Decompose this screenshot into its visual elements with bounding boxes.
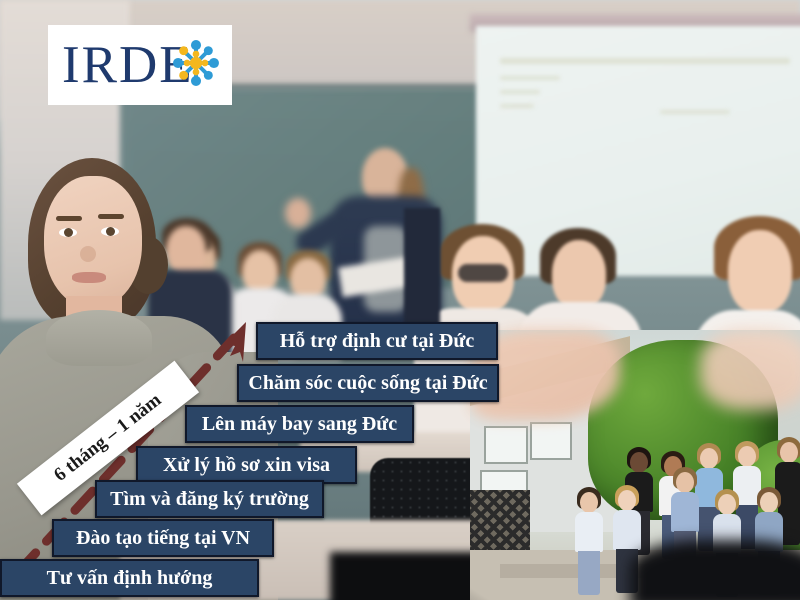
portrait-turtleneck-collar xyxy=(46,310,152,366)
portrait-brow-left xyxy=(56,216,82,221)
photo-person-bottom xyxy=(578,551,600,595)
service-step-label: Chăm sóc cuộc sống tại Đức xyxy=(248,372,487,395)
student-behind-head xyxy=(166,226,206,276)
molecule-icon xyxy=(168,35,224,91)
screen-row-2 xyxy=(500,76,560,80)
service-step-label: Tìm và đăng ký trường xyxy=(110,488,309,511)
photo-window-1 xyxy=(484,426,528,464)
photo-person-head xyxy=(700,448,718,469)
portrait-face xyxy=(44,176,142,308)
photo-person-head xyxy=(738,446,756,467)
photo-window-2 xyxy=(530,422,572,460)
foreground-blur-hand-right xyxy=(700,330,800,410)
student-fg-blazer xyxy=(404,208,440,328)
photo-person-top xyxy=(671,492,699,532)
photo-person-top xyxy=(575,512,603,552)
photo-person-head xyxy=(760,492,778,513)
service-step-label: Xử lý hồ sơ xin visa xyxy=(163,454,330,477)
screen-row-4 xyxy=(500,104,534,108)
service-step-6[interactable]: Đào tạo tiếng tại VN xyxy=(52,519,274,557)
student-fg-2-head xyxy=(552,240,606,310)
photo-person-head xyxy=(780,442,798,463)
teacher-hand xyxy=(285,198,311,228)
service-step-7[interactable]: Tư vấn định hướng xyxy=(0,559,259,597)
student-fg-1-glasses xyxy=(458,264,508,282)
photo-person-head xyxy=(580,492,598,513)
irde-logo[interactable]: IRDE xyxy=(48,25,232,105)
service-step-5[interactable]: Tìm và đăng ký trường xyxy=(95,480,324,518)
screen-row-1 xyxy=(500,58,790,64)
photo-person-head xyxy=(676,472,694,493)
foreground-blur-dark xyxy=(630,540,800,600)
photo-person-head xyxy=(718,494,736,515)
service-step-label: Hỗ trợ định cư tại Đức xyxy=(280,330,475,353)
photo-person-head xyxy=(630,452,648,473)
service-step-label: Tư vấn định hướng xyxy=(47,567,213,590)
student-fg-3-head xyxy=(728,230,792,314)
service-step-label: Đào tạo tiếng tại VN xyxy=(76,527,250,550)
service-step-1[interactable]: Hỗ trợ định cư tại Đức xyxy=(256,322,498,360)
service-step-2[interactable]: Chăm sóc cuộc sống tại Đức xyxy=(237,364,499,402)
photo-person-top xyxy=(613,510,641,550)
screen-row-5 xyxy=(660,110,730,114)
portrait-pupil-right xyxy=(106,227,115,236)
service-step-label: Lên máy bay sang Đức xyxy=(202,413,397,436)
screen-row-3 xyxy=(500,90,540,94)
portrait-pupil-left xyxy=(64,228,73,237)
service-step-4[interactable]: Xử lý hồ sơ xin visa xyxy=(136,446,357,484)
portrait-brow-right xyxy=(98,214,124,219)
portrait-lips xyxy=(72,272,106,283)
promo-graphic: 6 tháng – 1 năm Hỗ trợ định cư tại ĐứcCh… xyxy=(0,0,800,600)
service-step-3[interactable]: Lên máy bay sang Đức xyxy=(185,405,414,443)
portrait-nose xyxy=(80,246,96,262)
photo-person-head xyxy=(618,490,636,511)
